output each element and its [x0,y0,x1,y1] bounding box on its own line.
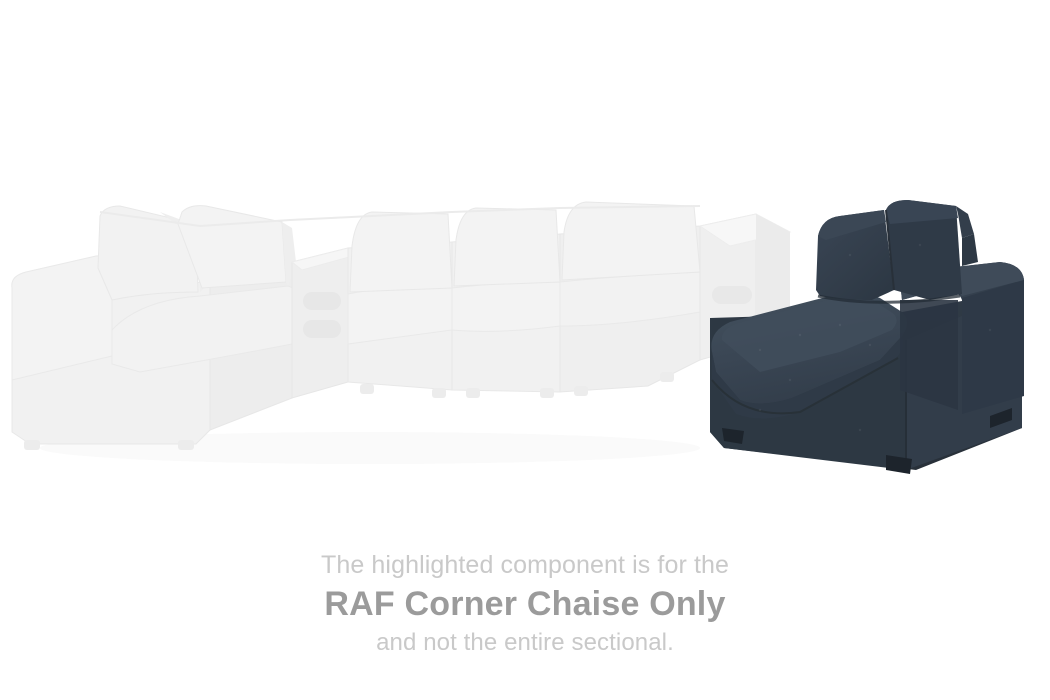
console-left-cupholder-1 [303,292,341,310]
console-right-cupholder-1 [712,286,752,304]
console-left-cupholder-2 [303,320,341,338]
armless-2-foot-2 [540,388,554,398]
wedge-foot-1 [574,386,588,396]
armless-2-back-cushion [454,208,560,286]
armless-2-foot-1 [466,388,480,398]
ghost-module-wedge-corner [560,202,700,396]
laf-foot-1 [24,440,40,450]
sofa-illustration [0,0,1050,540]
armless-2-seat [452,282,560,331]
wedge-foot-2 [660,372,674,382]
laf-foot-2 [178,440,194,450]
chaise-right-arm-outer [962,280,1024,414]
ghost-module-armless-chair-2 [452,208,560,398]
chaise-back-rail-step [956,206,974,238]
sectional-sofa-diagram [0,0,1050,540]
caption-line-component-name: RAF Corner Chaise Only [0,582,1050,626]
chaise-back-rail-lower [962,234,978,266]
armless-1-back-cushion [350,212,452,292]
product-callout-page: The highlighted component is for the RAF… [0,0,1050,700]
caption-line-disclaimer: and not the entire sectional. [0,626,1050,659]
armless-1-foot-2 [432,388,446,398]
ghost-sectional-group [12,202,790,464]
ghost-module-armless-chair-1 [348,212,452,398]
ghost-module-laf-loveseat [12,206,297,450]
callout-caption: The highlighted component is for the RAF… [0,548,1050,659]
wedge-back-cushion [562,202,700,280]
caption-line-intro: The highlighted component is for the [0,548,1050,582]
armless-1-foot-1 [360,384,374,394]
